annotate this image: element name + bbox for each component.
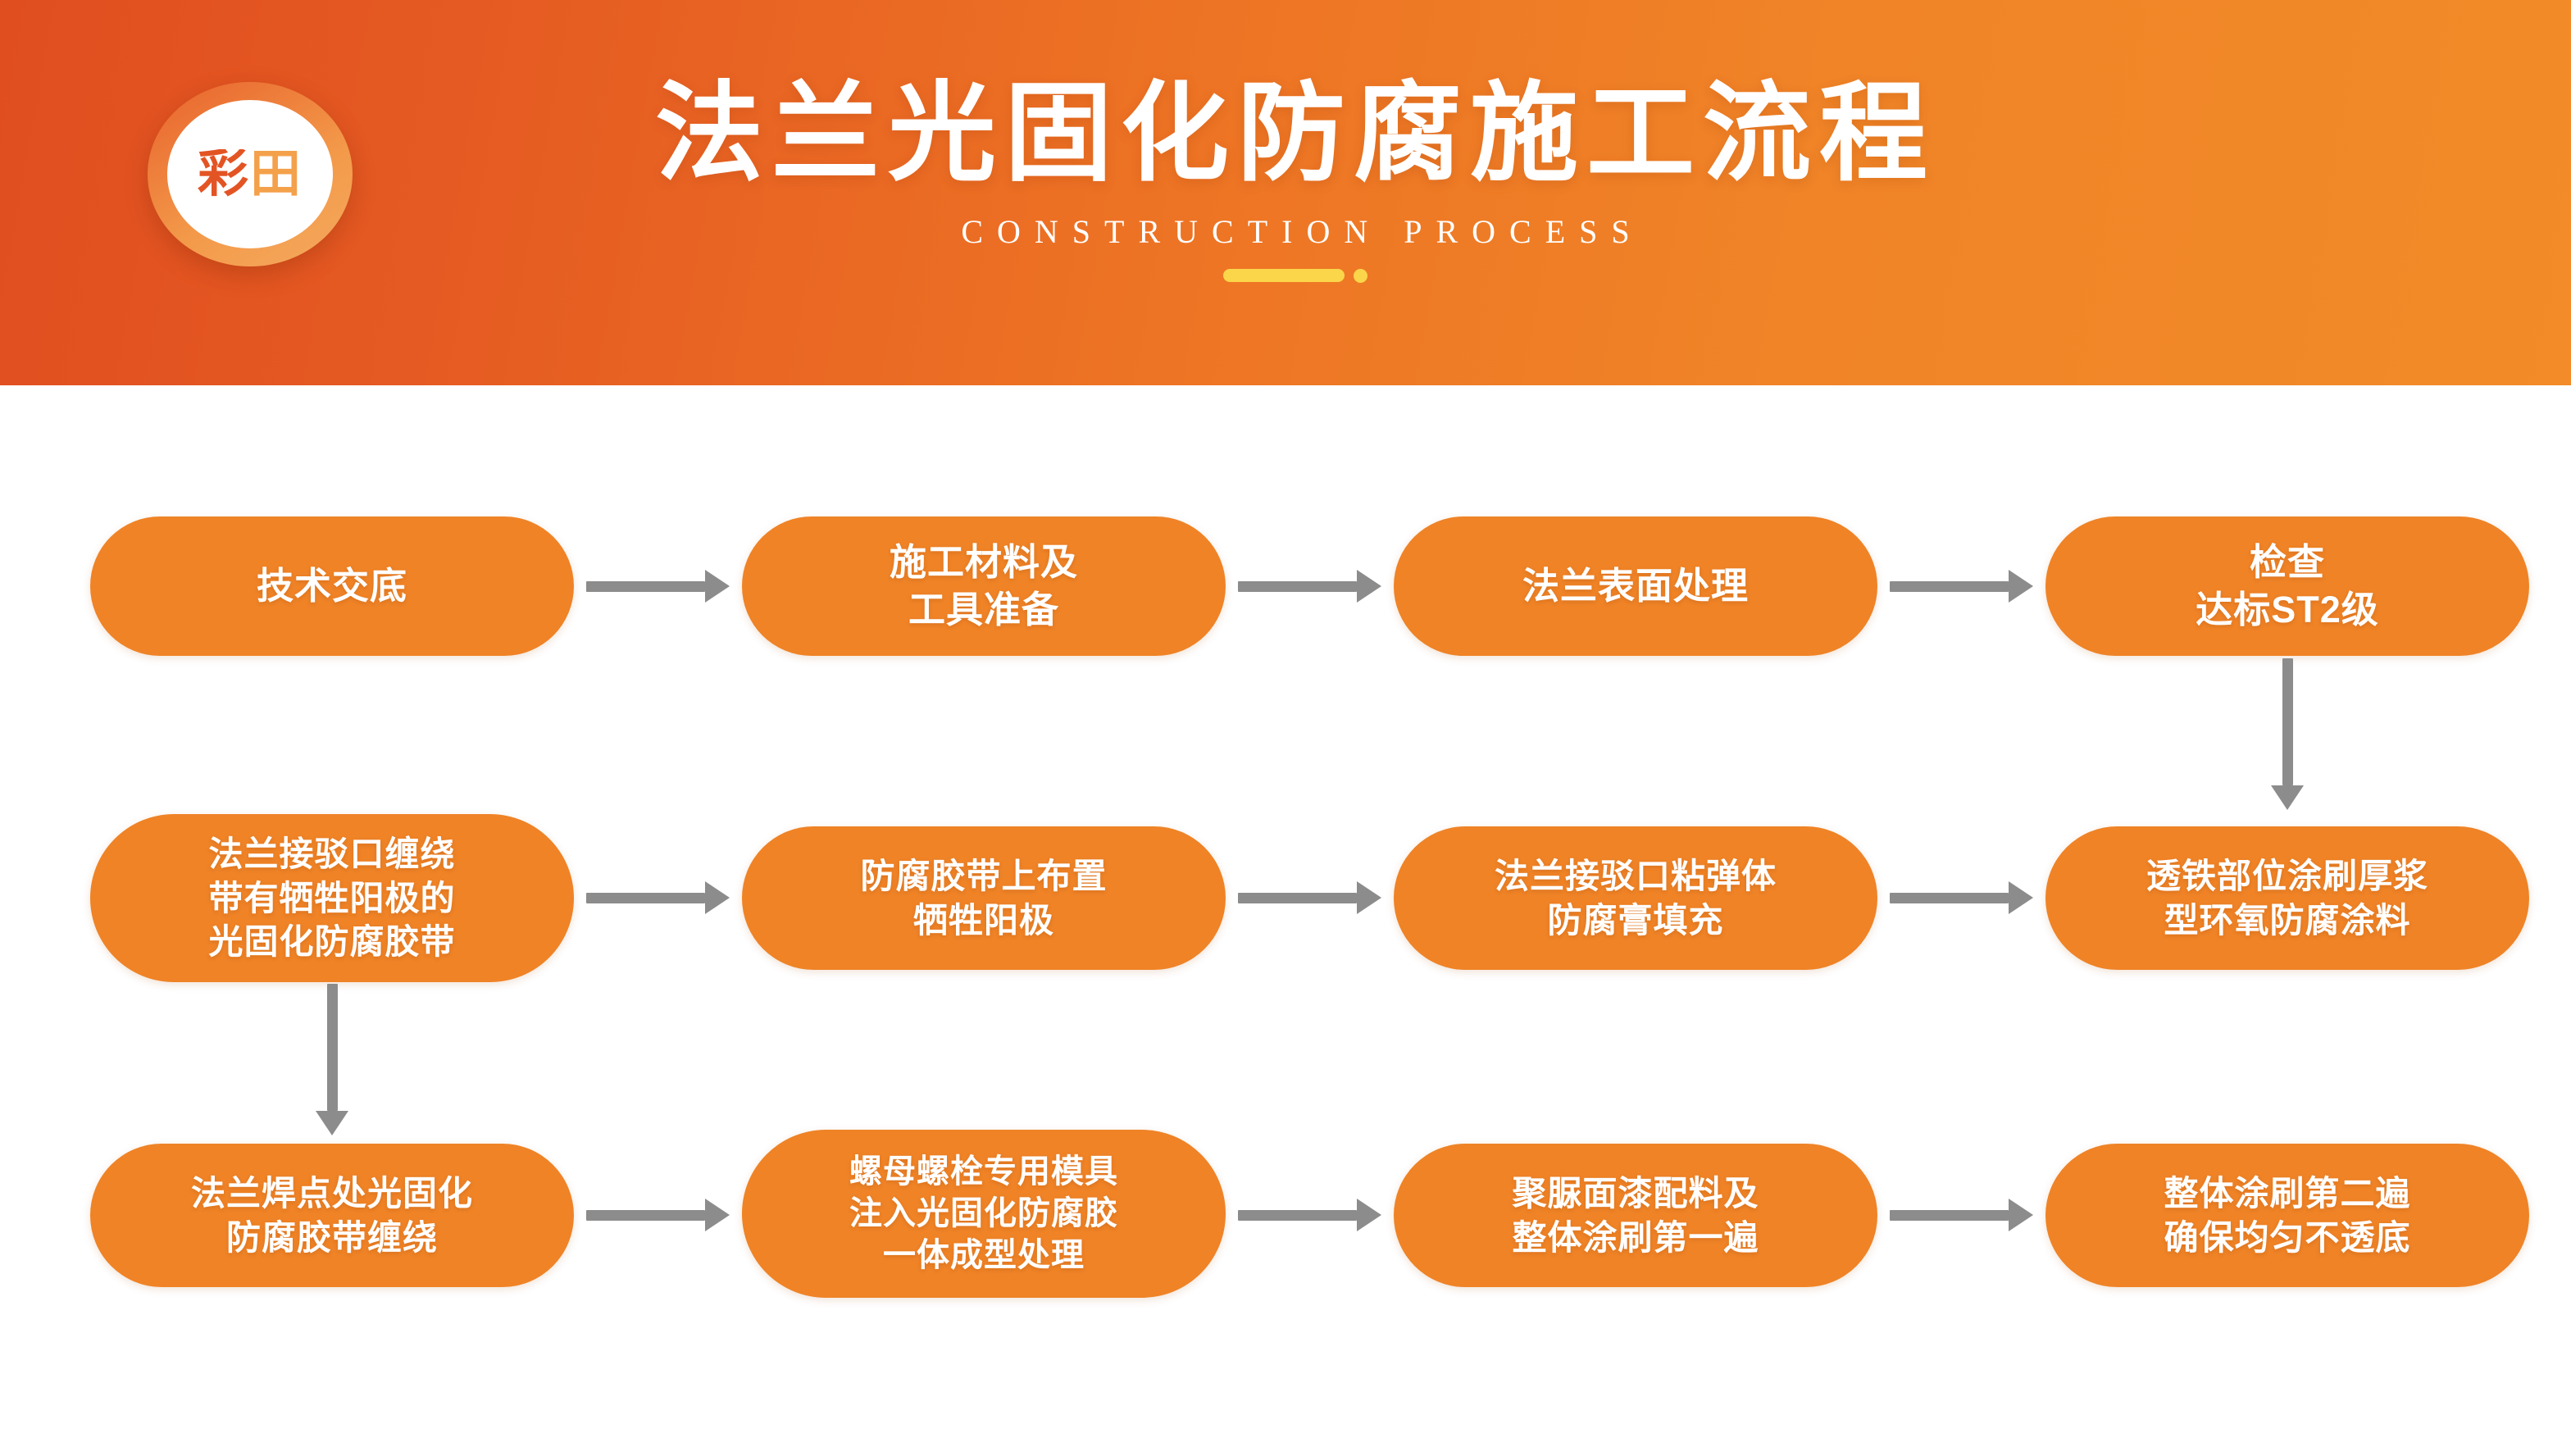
flow-node-n4[interactable]: 检查 达标ST2级 <box>2045 516 2529 656</box>
connector-n2-n3 <box>1238 580 1381 592</box>
arrow-shaft <box>2282 658 2293 785</box>
arrow-shaft <box>586 1210 705 1221</box>
connector-n6-n5 <box>586 892 730 903</box>
arrow-shaft <box>1238 893 1357 903</box>
connector-n5-n9 <box>326 984 338 1135</box>
flow-node-n12[interactable]: 整体涂刷第二遍 确保均匀不透底 <box>2045 1144 2529 1287</box>
arrow-shaft <box>1238 581 1357 592</box>
flow-node-label: 检查 达标ST2级 <box>2196 539 2379 633</box>
connector-n7-n6 <box>1238 892 1381 903</box>
arrow-shaft <box>1238 1210 1357 1221</box>
underline-dot <box>1354 269 1367 283</box>
arrow-shaft <box>1890 581 2009 592</box>
flow-node-label: 法兰接驳口缠绕 带有牺牲阳极的 光固化防腐胶带 <box>208 832 455 964</box>
flow-node-n7[interactable]: 法兰接驳口粘弹体 防腐膏填充 <box>1394 826 1877 970</box>
arrow-shaft <box>586 893 705 903</box>
arrow-head-right-icon <box>1357 881 1381 914</box>
flow-node-label: 聚脲面漆配料及 整体涂刷第一遍 <box>1512 1172 1759 1260</box>
flow-node-n9[interactable]: 法兰焊点处光固化 防腐胶带缠绕 <box>90 1144 574 1287</box>
arrow-head-right-icon <box>2009 1199 2033 1231</box>
connector-n4-n8 <box>2282 658 2293 810</box>
logo-inner-circle: 彩田 <box>167 100 333 248</box>
arrow-head-down-icon <box>316 1111 348 1135</box>
flow-node-n2[interactable]: 施工材料及 工具准备 <box>742 516 1226 656</box>
flow-node-label: 法兰焊点处光固化 防腐胶带缠绕 <box>191 1172 473 1260</box>
flow-node-label: 技术交底 <box>257 562 407 610</box>
title-underline <box>541 269 2050 283</box>
arrow-head-right-icon <box>705 1199 730 1231</box>
connector-n9-n10 <box>586 1209 730 1221</box>
arrow-head-right-icon <box>1357 1199 1381 1231</box>
flow-node-n3[interactable]: 法兰表面处理 <box>1394 516 1877 656</box>
page-title: 法兰光固化防腐施工流程 <box>541 70 2050 198</box>
arrow-head-right-icon <box>2009 881 2033 914</box>
flow-node-n5[interactable]: 法兰接驳口缠绕 带有牺牲阳极的 光固化防腐胶带 <box>90 814 574 982</box>
arrow-head-right-icon <box>1357 570 1381 603</box>
flow-node-label: 透铁部位涂刷厚浆 型环氧防腐涂料 <box>2146 854 2428 943</box>
flow-node-label: 法兰表面处理 <box>1522 562 1749 610</box>
flow-node-n11[interactable]: 聚脲面漆配料及 整体涂刷第一遍 <box>1394 1144 1877 1287</box>
flow-node-n8[interactable]: 透铁部位涂刷厚浆 型环氧防腐涂料 <box>2045 826 2529 970</box>
header-banner: 彩田 法兰光固化防腐施工流程 CONSTRUCTION PROCESS <box>0 0 2571 385</box>
flowchart: 技术交底 施工材料及 工具准备 法兰表面处理 检查 达标ST2级 <box>0 385 2571 1456</box>
flow-node-n1[interactable]: 技术交底 <box>90 516 574 656</box>
connector-n1-n2 <box>586 580 730 592</box>
arrow-shaft <box>1890 1210 2009 1221</box>
underline-bar <box>1223 269 1345 282</box>
page-subtitle: CONSTRUCTION PROCESS <box>541 212 2050 251</box>
connector-n3-n4 <box>1890 580 2033 592</box>
connector-n11-n12 <box>1890 1209 2033 1221</box>
logo-label: 彩田 <box>198 149 303 200</box>
poster-root: 彩田 法兰光固化防腐施工流程 CONSTRUCTION PROCESS 技术交底… <box>0 0 2571 1456</box>
arrow-head-right-icon <box>2009 570 2033 603</box>
title-block: 法兰光固化防腐施工流程 CONSTRUCTION PROCESS <box>541 70 2050 283</box>
flow-node-label: 整体涂刷第二遍 确保均匀不透底 <box>2164 1172 2410 1260</box>
arrow-head-right-icon <box>705 570 730 603</box>
arrow-head-right-icon <box>705 881 730 914</box>
flow-node-label: 施工材料及 工具准备 <box>890 539 1078 633</box>
flow-node-label: 防腐胶带上布置 牺牲阳极 <box>860 854 1107 943</box>
arrow-shaft <box>327 984 338 1111</box>
arrow-shaft <box>1890 893 2009 903</box>
brand-logo: 彩田 <box>148 82 353 266</box>
connector-n8-n7 <box>1890 892 2033 903</box>
flow-node-n10[interactable]: 螺母螺栓专用模具 注入光固化防腐胶 一体成型处理 <box>742 1130 1226 1298</box>
arrow-shaft <box>586 581 705 592</box>
flow-node-n6[interactable]: 防腐胶带上布置 牺牲阳极 <box>742 826 1226 970</box>
flow-node-label: 法兰接驳口粘弹体 防腐膏填充 <box>1495 854 1777 943</box>
flow-node-label: 螺母螺栓专用模具 注入光固化防腐胶 一体成型处理 <box>849 1151 1118 1277</box>
arrow-head-down-icon <box>2271 785 2304 810</box>
connector-n10-n11 <box>1238 1209 1381 1221</box>
